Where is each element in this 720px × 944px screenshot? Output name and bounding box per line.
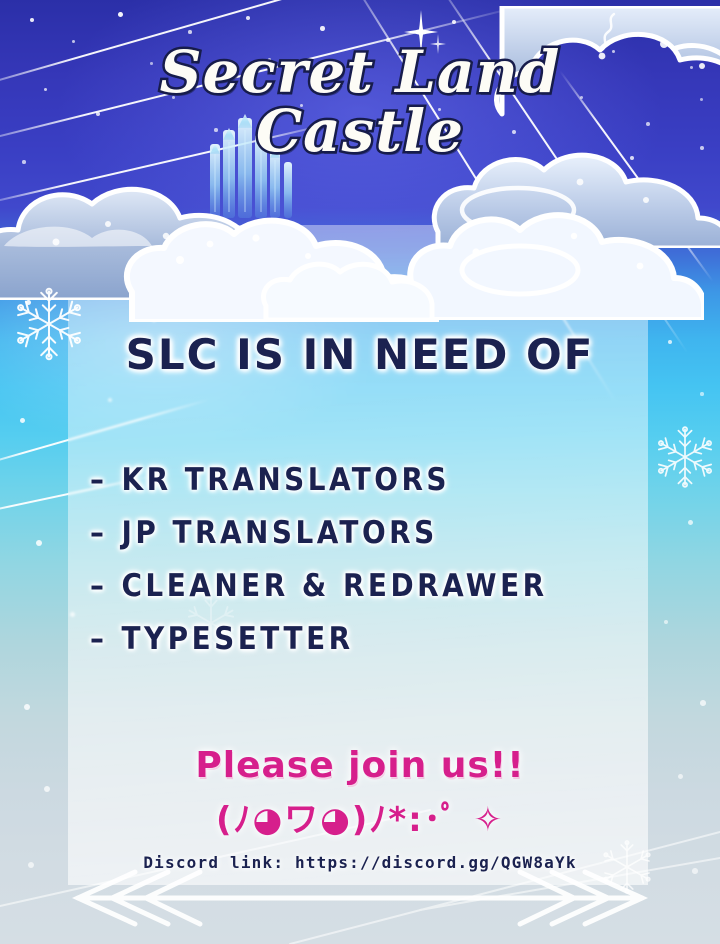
poster-canvas: Secret Land Castle SLC IS IN NEED OF – K… (0, 0, 720, 944)
star-dot (172, 96, 175, 99)
star-dot (656, 24, 660, 28)
kaomoji-emoticon: (ﾉ◕ワ◕)ﾉ*:･ﾟ ✧ (0, 792, 720, 841)
star-dot (700, 98, 703, 101)
star-dot (246, 16, 250, 20)
star-dot (700, 392, 704, 396)
bullet-dash: – (90, 621, 107, 657)
list-item: – CLEANER & REDRAWER (90, 568, 548, 604)
bullet-dash: – (90, 515, 107, 551)
star-dot (150, 62, 153, 65)
list-item-label: CLEANER & REDRAWER (121, 568, 547, 604)
star-dot (268, 58, 271, 61)
bullet-dash: – (90, 568, 107, 604)
list-item-label: TYPESETTER (121, 621, 353, 657)
star-dot (690, 66, 693, 69)
list-item-label: JP TRANSLATORS (121, 515, 437, 551)
star-dot (118, 12, 123, 17)
list-item-label: KR TRANSLATORS (121, 462, 450, 498)
sparkle-icon (430, 34, 446, 54)
star-dot (62, 196, 66, 200)
ice-castle-icon (196, 108, 306, 226)
list-item: – KR TRANSLATORS (90, 462, 548, 498)
star-dot (22, 160, 26, 164)
page-headline: SLC IS IN NEED OF (0, 330, 720, 379)
roles-needed-list: – KR TRANSLATORS – JP TRANSLATORS – CLEA… (90, 462, 548, 674)
join-text: Please join us!! (0, 745, 720, 786)
sparkle-icon (596, 182, 608, 198)
star-dot (530, 34, 534, 38)
bullet-dash: – (90, 462, 107, 498)
discord-link[interactable]: Discord link: https://discord.gg/QGW8aYk (0, 853, 720, 872)
snowflake-icon (652, 424, 718, 490)
list-item: – JP TRANSLATORS (90, 515, 548, 551)
list-item: – TYPESETTER (90, 621, 548, 657)
star-dot (646, 122, 650, 126)
star-dot (36, 540, 42, 546)
join-call-to-action: Please join us!! (ﾉ◕ワ◕)ﾉ*:･ﾟ ✧ Discord l… (0, 745, 720, 872)
star-dot (368, 136, 372, 140)
star-dot (700, 146, 704, 150)
star-dot (512, 130, 516, 134)
star-dot (188, 30, 192, 34)
star-dot (478, 64, 481, 67)
star-dot (320, 26, 325, 31)
